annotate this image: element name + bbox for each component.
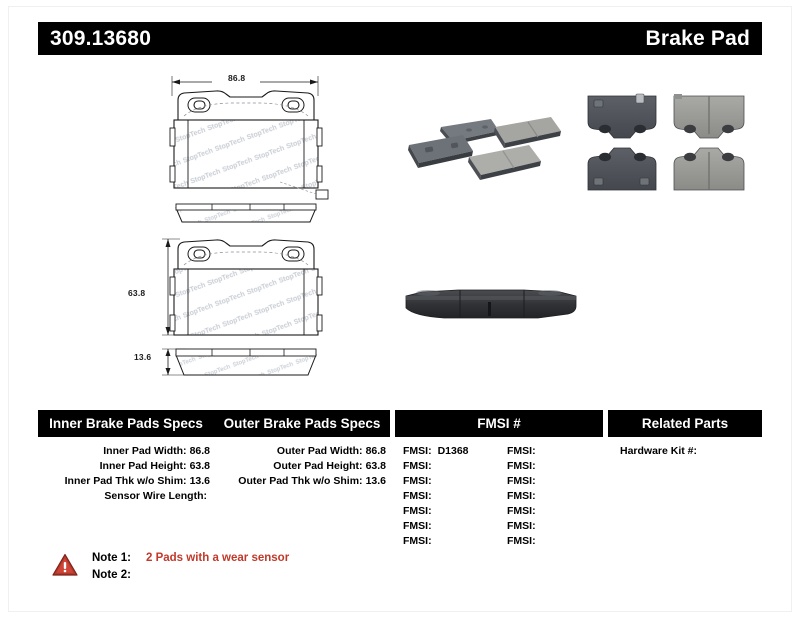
- fmsi-value: [536, 490, 542, 502]
- spec-label: Outer Pad Thk w/o Shim:: [238, 475, 362, 487]
- pad-height-dimension-drawing: [150, 225, 340, 390]
- spec-label: Sensor Wire Length:: [104, 490, 207, 502]
- spec-label: Inner Pad Thk w/o Shim:: [65, 475, 187, 487]
- header-bar: 309.13680 Brake Pad: [38, 22, 762, 55]
- fmsi-column: FMSI:D1368 FMSI: FMSI: FMSI: FMSI:: [395, 444, 603, 549]
- datasheet-page: 309.13680 Brake Pad StopTech StopTech: [0, 0, 800, 619]
- dimension-label-thickness: 13.6: [134, 352, 151, 362]
- spec-value: 86.8: [187, 445, 210, 457]
- specs-table: Inner Brake Pads Specs Outer Brake Pads …: [38, 410, 762, 549]
- note-row: Note 1: 2 Pads with a wear sensor: [92, 550, 289, 567]
- fmsi-row: FMSI:: [499, 534, 603, 549]
- fmsi-label: FMSI:: [403, 460, 432, 472]
- fmsi-value: D1368: [432, 445, 469, 457]
- fmsi-subcolumn-2: FMSI: FMSI: FMSI: FMSI: FMSI:: [499, 444, 603, 549]
- outer-specs-column: Outer Pad Width:86.8 Outer Pad Height:63…: [214, 444, 390, 549]
- note-label: Note 1:: [92, 550, 140, 567]
- fmsi-value: [432, 460, 438, 472]
- part-number: 309.13680: [50, 27, 151, 51]
- column-header-fmsi: FMSI #: [395, 410, 603, 437]
- fmsi-row: FMSI:: [395, 534, 499, 549]
- fmsi-label: FMSI:: [507, 520, 536, 532]
- fmsi-value: [536, 445, 542, 457]
- product-type: Brake Pad: [645, 27, 750, 51]
- fmsi-label: FMSI:: [403, 445, 432, 457]
- fmsi-value: [536, 460, 542, 472]
- brake-pad-set-angled-photo: [395, 85, 580, 200]
- spec-value: 13.6: [363, 475, 386, 487]
- fmsi-label: FMSI:: [507, 445, 536, 457]
- fmsi-value: [536, 475, 542, 487]
- fmsi-row: FMSI:: [395, 459, 499, 474]
- spec-row: Inner Pad Width:86.8: [38, 444, 214, 459]
- spec-label: Outer Pad Width:: [277, 445, 363, 457]
- fmsi-label: FMSI:: [403, 490, 432, 502]
- fmsi-row: FMSI:: [499, 444, 603, 459]
- fmsi-value: [432, 520, 438, 532]
- fmsi-row: FMSI:: [499, 459, 603, 474]
- fmsi-label: FMSI:: [507, 475, 536, 487]
- table-body: Inner Pad Width:86.8 Inner Pad Height:63…: [38, 437, 762, 549]
- brake-pad-edge-profile-photo: [398, 268, 583, 343]
- fmsi-value: [536, 505, 542, 517]
- spec-label: Outer Pad Height:: [273, 460, 362, 472]
- fmsi-label: FMSI:: [403, 535, 432, 547]
- spec-value: 86.8: [363, 445, 386, 457]
- spec-row: Outer Pad Thk w/o Shim:13.6: [214, 474, 390, 489]
- spec-label: Inner Pad Height:: [100, 460, 187, 472]
- spec-value: 63.8: [363, 460, 386, 472]
- note-text: 2 Pads with a wear sensor: [140, 550, 289, 567]
- fmsi-value: [432, 505, 438, 517]
- fmsi-label: FMSI:: [403, 475, 432, 487]
- spec-value: [207, 490, 210, 502]
- fmsi-label: FMSI:: [403, 520, 432, 532]
- fmsi-row: FMSI:: [395, 489, 499, 504]
- fmsi-value: [536, 535, 542, 547]
- fmsi-row: FMSI:: [499, 474, 603, 489]
- fmsi-value: [432, 535, 438, 547]
- column-header-related-parts: Related Parts: [608, 410, 762, 437]
- fmsi-label: FMSI:: [403, 505, 432, 517]
- fmsi-value: [432, 475, 438, 487]
- note-label: Note 2:: [92, 567, 140, 584]
- column-header-outer-specs: Outer Brake Pads Specs: [214, 410, 390, 437]
- inner-specs-column: Inner Pad Width:86.8 Inner Pad Height:63…: [38, 444, 214, 549]
- fmsi-row: FMSI:: [499, 519, 603, 534]
- fmsi-subcolumn-1: FMSI:D1368 FMSI: FMSI: FMSI: FMSI:: [395, 444, 499, 549]
- fmsi-label: FMSI:: [507, 460, 536, 472]
- fmsi-value: [432, 490, 438, 502]
- spec-row: Inner Pad Thk w/o Shim:13.6: [38, 474, 214, 489]
- pad-top-dimension-drawing: [150, 70, 340, 230]
- fmsi-row: FMSI:: [499, 489, 603, 504]
- fmsi-row: FMSI:: [395, 504, 499, 519]
- fmsi-value: [536, 520, 542, 532]
- dimension-label-height: 63.8: [128, 288, 145, 298]
- note-row: Note 2:: [92, 567, 289, 584]
- spec-value: 13.6: [187, 475, 210, 487]
- spec-value: 63.8: [187, 460, 210, 472]
- brake-pad-set-top-bottom-photo: [578, 82, 758, 204]
- notes-section: Note 1: 2 Pads with a wear sensor Note 2…: [52, 550, 552, 595]
- fmsi-row: FMSI:D1368: [395, 444, 499, 459]
- table-header-row: Inner Brake Pads Specs Outer Brake Pads …: [38, 410, 762, 437]
- fmsi-row: FMSI:: [395, 474, 499, 489]
- dimension-label-width: 86.8: [228, 73, 245, 83]
- drawings-section: StopTech StopTech: [0, 60, 800, 395]
- spec-row: Inner Pad Height:63.8: [38, 459, 214, 474]
- spec-row: Sensor Wire Length:: [38, 489, 214, 504]
- note-rows: Note 1: 2 Pads with a wear sensor Note 2…: [92, 550, 289, 584]
- fmsi-row: FMSI:: [499, 504, 603, 519]
- spec-label: Inner Pad Width:: [103, 445, 186, 457]
- spec-row: Outer Pad Width:86.8: [214, 444, 390, 459]
- column-header-inner-specs: Inner Brake Pads Specs: [38, 410, 214, 437]
- fmsi-label: FMSI:: [507, 490, 536, 502]
- warning-triangle-icon: [52, 553, 78, 577]
- related-part-row: Hardware Kit #:: [608, 444, 762, 459]
- fmsi-row: FMSI:: [395, 519, 499, 534]
- fmsi-label: FMSI:: [507, 535, 536, 547]
- related-part-label: Hardware Kit #:: [620, 445, 697, 457]
- fmsi-label: FMSI:: [507, 505, 536, 517]
- related-parts-column: Hardware Kit #:: [608, 444, 762, 549]
- spec-row: Outer Pad Height:63.8: [214, 459, 390, 474]
